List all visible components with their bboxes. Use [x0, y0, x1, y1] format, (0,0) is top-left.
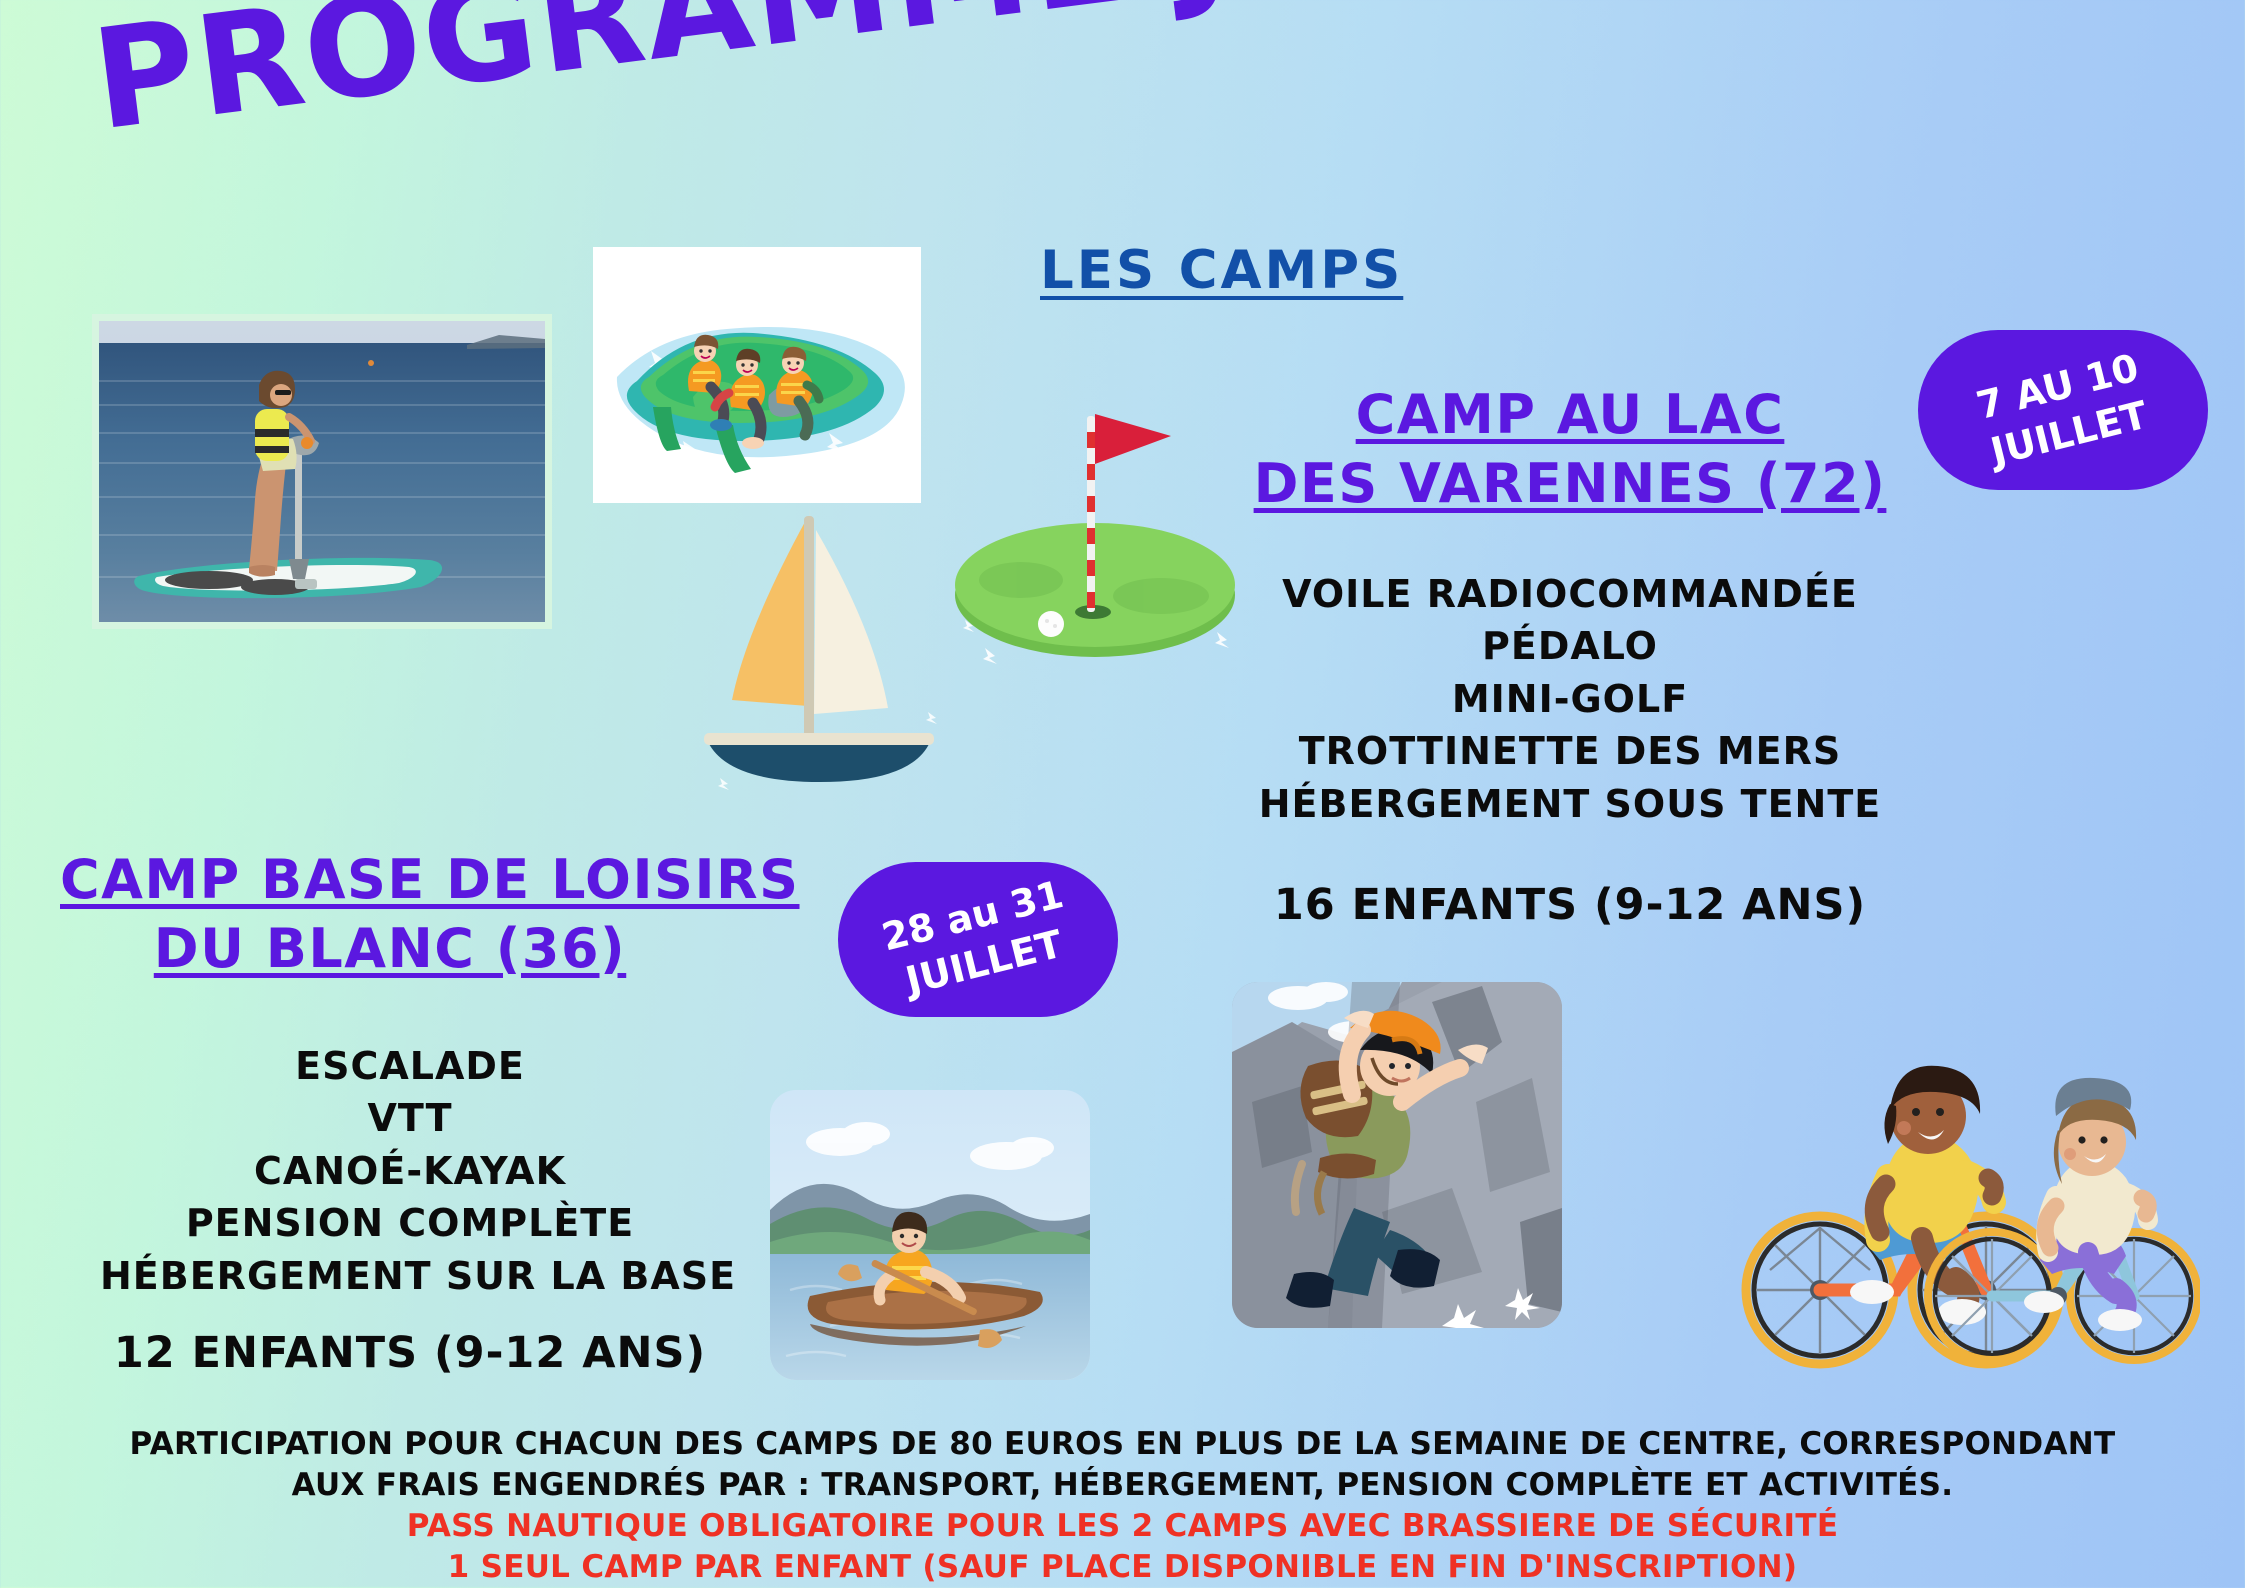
activity-item: TROTTINETTE DES MERS — [1250, 725, 1890, 777]
section-heading-les-camps: LES CAMPS — [1040, 240, 1403, 301]
footer-line-1: PARTICIPATION POUR CHACUN DES CAMPS DE 8… — [0, 1424, 2245, 1465]
activity-item: PENSION COMPLèTE — [100, 1197, 720, 1249]
pedalo-illustration — [593, 247, 921, 503]
footer-line-4: 1 SEUL CAMP PAR ENFANT (SAUF PLACE DISPO… — [0, 1547, 2245, 1588]
activity-item: ESCALADE — [100, 1040, 720, 1092]
camp-lac-varennes-title: CAMP AU LAC DES VARENNES (72) — [1250, 380, 1890, 518]
cyclists-illustration — [1700, 960, 2200, 1380]
paddleboard-photo — [92, 314, 552, 629]
camp-lac-varennes-dates: 7 AU 10 JUILLET — [1972, 344, 2155, 476]
footer-line-3: PASS NAUTIQUE OBLIGATOIRE POUR LES 2 CAM… — [0, 1506, 2245, 1547]
activity-item: PéDALO — [1250, 620, 1890, 672]
climbing-illustration — [1232, 982, 1562, 1328]
activity-item: CANOé-KAYAK — [100, 1145, 720, 1197]
kayak-illustration — [770, 1090, 1090, 1380]
activity-item: MINI-GOLF — [1250, 673, 1890, 725]
poster-canvas: PROGRAMME JUILLET 2026 LES CAMPS — [0, 0, 2245, 1587]
camp-base-loisirs-title-line2: DU BLANC (36) — [60, 914, 720, 983]
camp-lac-varennes-title-line2: DES VARENNES (72) — [1250, 449, 1890, 518]
minigolf-illustration — [925, 380, 1255, 680]
camp-base-loisirs-title: CAMP BASE DE LOISIRS DU BLANC (36) — [60, 845, 720, 983]
camp-lac-varennes-activities: VOILE RADIOCOMMANDéE PéDALO MINI-GOLF TR… — [1250, 568, 1890, 830]
camp-base-loisirs-capacity: 12 ENFANTS (9-12 ANS) — [100, 1328, 720, 1378]
activity-item: HéBERGEMENT SOUS TENTE — [1250, 778, 1890, 830]
page-title: PROGRAMME JUILLET 2026 — [86, 0, 2049, 154]
camp-base-loisirs-activities: ESCALADE VTT CANOé-KAYAK PENSION COMPLèT… — [100, 1040, 720, 1302]
footer-line-2: AUX FRAIS ENGENDRéS PAR : TRANSPORT, HéB… — [0, 1465, 2245, 1506]
activity-item: VOILE RADIOCOMMANDéE — [1250, 568, 1890, 620]
camp-base-loisirs-title-line1: CAMP BASE DE LOISIRS — [60, 845, 720, 914]
camp-lac-varennes-capacity: 16 ENFANTS (9-12 ANS) — [1250, 880, 1890, 930]
camp-lac-varennes-title-line1: CAMP AU LAC — [1250, 380, 1890, 449]
activity-item: VTT — [100, 1092, 720, 1144]
camp-base-loisirs-dates: 28 au 31 JUILLET — [877, 871, 1079, 1008]
camp-base-loisirs-dates-bubble: 28 au 31 JUILLET — [838, 862, 1118, 1017]
activity-item: HéBERGEMENT SUR LA BASE — [100, 1250, 720, 1302]
camp-lac-varennes-dates-bubble: 7 AU 10 JUILLET — [1918, 330, 2208, 490]
